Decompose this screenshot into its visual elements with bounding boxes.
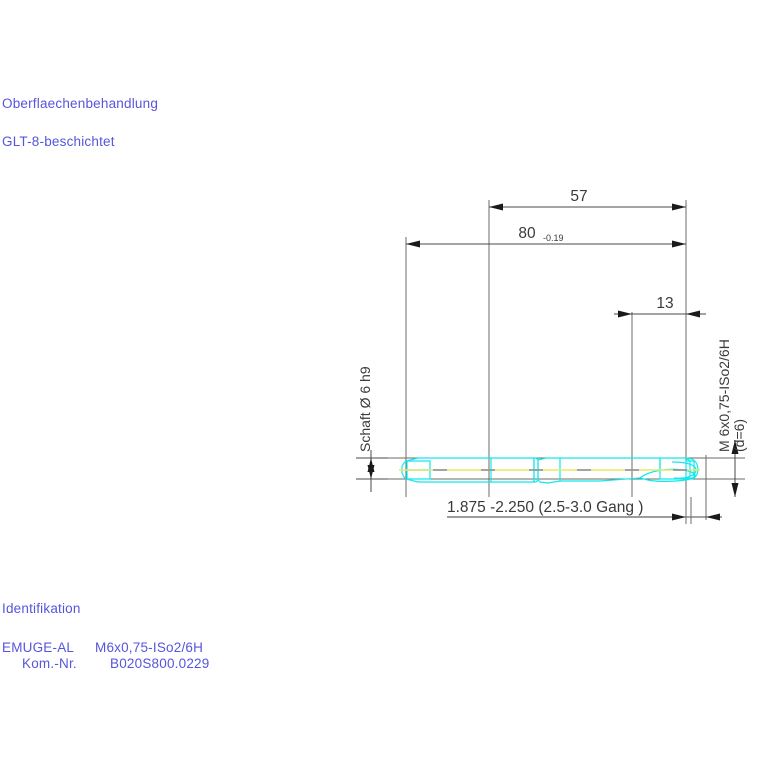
dimension-80: 80 -0.19 — [406, 225, 686, 248]
dimension-13: 13 — [614, 295, 706, 318]
dimension-57-label: 57 — [570, 188, 587, 205]
dimension-thread-spec: M 6x0,75-ISo2/6H (d=6) — [716, 339, 747, 497]
identification-heading: Identifikation — [2, 601, 81, 616]
dimension-80-label: 80 — [518, 225, 536, 242]
identification-kom-nr-label: Kom.-Nr. — [22, 656, 77, 671]
pitch-note-label: 1.875 -2.250 (2.5-3.0 Gang ) — [447, 499, 643, 516]
shank-diameter-label: Schaft Ø 6 h9 — [357, 366, 373, 452]
identification-thread-spec: M6x0,75-ISo2/6H — [95, 640, 203, 655]
square-drive-top — [407, 461, 430, 470]
thread-spec-line2: (d=6) — [731, 419, 747, 452]
identification-maker: EMUGE-AL — [2, 640, 74, 655]
dimension-13-label: 13 — [656, 295, 673, 312]
dimension-shank-diameter: Schaft Ø 6 h9 — [356, 366, 388, 492]
dimension-80-tolerance: -0.19 — [543, 233, 564, 243]
thread-spec-line1: M 6x0,75-ISo2/6H — [716, 339, 732, 452]
surface-treatment-value: GLT-8-beschichtet — [2, 134, 115, 149]
square-drive-bottom — [407, 470, 430, 479]
technical-drawing-canvas: Oberflaechenbehandlung GLT-8-beschichtet… — [0, 0, 767, 767]
identification-kom-nr-value: B020S800.0229 — [110, 656, 209, 671]
dimension-57: 57 — [489, 188, 686, 211]
dimension-pitch-note: 1.875 -2.250 (2.5-3.0 Gang ) — [447, 497, 722, 524]
thread-shank-top — [560, 458, 660, 470]
surface-treatment-heading: Oberflaechenbehandlung — [2, 96, 158, 111]
